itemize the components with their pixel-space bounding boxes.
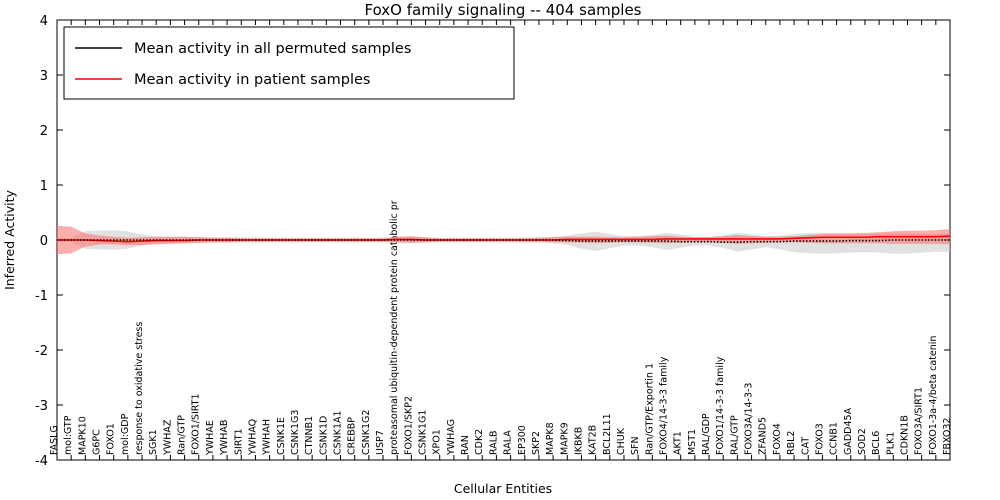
x-tick-label-57: SOD2 (857, 428, 868, 455)
x-tick-label-3: G6PC (92, 429, 103, 455)
x-tick-label-42: Ran/GTP/Exportin 1 (644, 363, 655, 455)
y-tick-label: 2 (40, 124, 48, 139)
x-tick-label-40: CHUK (616, 427, 627, 455)
x-tick-label-21: CREBBP (347, 417, 358, 455)
x-tick-label-41: SFN (630, 436, 641, 455)
x-tick-label-35: MAPK8 (545, 422, 556, 455)
x-tick-label-44: AKT1 (673, 431, 684, 455)
x-tick-label-7: SGK1 (148, 429, 159, 455)
x-tick-label-15: YWHAH (262, 419, 273, 456)
chart-legend: Mean activity in all permuted samples Me… (64, 27, 514, 99)
x-tick-label-59: PLK1 (885, 432, 896, 455)
y-tick-label: -3 (35, 399, 48, 414)
x-tick-label-48: RAL/GTP (729, 415, 740, 455)
x-tick-label-1: mol:GTP (63, 415, 74, 455)
x-tick-label-8: YWHAZ (162, 419, 173, 456)
x-tick-label-29: RAN (460, 435, 471, 455)
x-tick-label-52: RBL2 (786, 431, 797, 455)
x-tick-label-2: MAPK10 (77, 416, 88, 455)
x-tick-label-19: CSNK1D (318, 416, 329, 455)
x-tick-label-4: FOXO1 (106, 423, 117, 455)
x-tick-label-26: CSNK1G1 (418, 410, 429, 455)
x-tick-label-36: MAPK9 (559, 422, 570, 455)
x-tick-label-43: FOXO4/14-3-3 family (659, 356, 670, 455)
x-tick-label-33: EP300 (517, 425, 528, 455)
x-tick-label-53: CAT (800, 437, 811, 455)
y-axis-label: Inferred Activity (2, 189, 17, 289)
x-tick-label-61: FOXO3A/SIRT1 (914, 387, 925, 455)
legend-box (64, 27, 514, 99)
x-tick-label-30: CDK2 (474, 429, 485, 455)
x-tick-label-16: CSNK1E (276, 417, 287, 455)
x-tick-label-39: BCL2L11 (602, 413, 613, 455)
x-tick-label-62: FOXO1-3a-4/beta catenin (928, 336, 939, 455)
x-tick-label-0: FASLG (49, 425, 60, 455)
y-tick-label: 1 (40, 179, 48, 194)
y-tick-label: 0 (40, 234, 48, 249)
x-tick-label-50: ZFAND5 (758, 417, 769, 455)
foxo-signaling-line-chart: FoxO family signaling -- 404 samples Inf… (0, 0, 1000, 500)
x-tick-label-54: FOXO3 (814, 423, 825, 455)
x-tick-label-56: GADD45A (843, 407, 854, 455)
x-tick-label-37: IKBKB (573, 427, 584, 455)
x-tick-label-5: mol:GDP (120, 413, 131, 455)
x-tick-label-9: Ran/GTP (177, 415, 188, 455)
x-tick-label-27: XPO1 (432, 429, 443, 455)
x-tick-label-60: CDKN1B (899, 415, 910, 455)
x-tick-label-31: RALB (488, 430, 499, 455)
x-tick-label-58: BCL6 (871, 431, 882, 455)
y-tick-label: -1 (35, 289, 48, 304)
x-tick-label-6: response to oxidative stress (134, 322, 145, 455)
x-tick-label-13: SIRT1 (233, 428, 244, 455)
y-tick-label: 4 (40, 14, 48, 29)
x-tick-label-45: MST1 (687, 429, 698, 455)
x-tick-label-28: YWHAG (446, 419, 457, 456)
y-tick-label: -2 (35, 344, 48, 359)
x-tick-label-47: FOXO1/14-3-3 family (715, 356, 726, 455)
x-tick-label-17: CSNK1G3 (290, 410, 301, 455)
x-tick-label-11: YWHAE (205, 420, 216, 456)
chart-figure: FoxO family signaling -- 404 samples Inf… (0, 0, 1000, 500)
x-tick-label-49: FOXO3A/14-3-3 (744, 383, 755, 456)
legend-label-permuted: Mean activity in all permuted samples (134, 41, 411, 57)
x-tick-label-63: FBXO32 (942, 418, 953, 455)
x-axis-label: Cellular Entities (454, 481, 552, 496)
x-tick-label-22: CSNK1G2 (361, 410, 372, 455)
y-tick-label: 3 (40, 69, 48, 84)
x-tick-label-18: CTNNB1 (304, 416, 315, 455)
x-tick-label-20: CSNK1A1 (332, 410, 343, 455)
x-tick-label-25: FOXO1/SKP2 (403, 396, 414, 455)
x-tick-label-51: FOXO4 (772, 423, 783, 455)
x-tick-label-14: YWHAQ (247, 419, 258, 456)
x-tick-label-34: SKP2 (531, 431, 542, 455)
x-tick-label-46: RAL/GDP (701, 413, 712, 455)
x-tick-label-12: YWHAB (219, 420, 230, 456)
legend-label-patient: Mean activity in patient samples (134, 72, 370, 88)
x-tick-label-32: RALA (503, 430, 514, 455)
y-tick-label: -4 (35, 454, 48, 469)
x-tick-label-10: FOXO1/SIRT1 (191, 393, 202, 455)
x-tick-label-55: CCNB1 (829, 422, 840, 455)
x-tick-label-23: USP7 (375, 430, 386, 455)
x-tick-label-38: KAT2B (588, 425, 599, 455)
chart-title: FoxO family signaling -- 404 samples (364, 1, 641, 19)
